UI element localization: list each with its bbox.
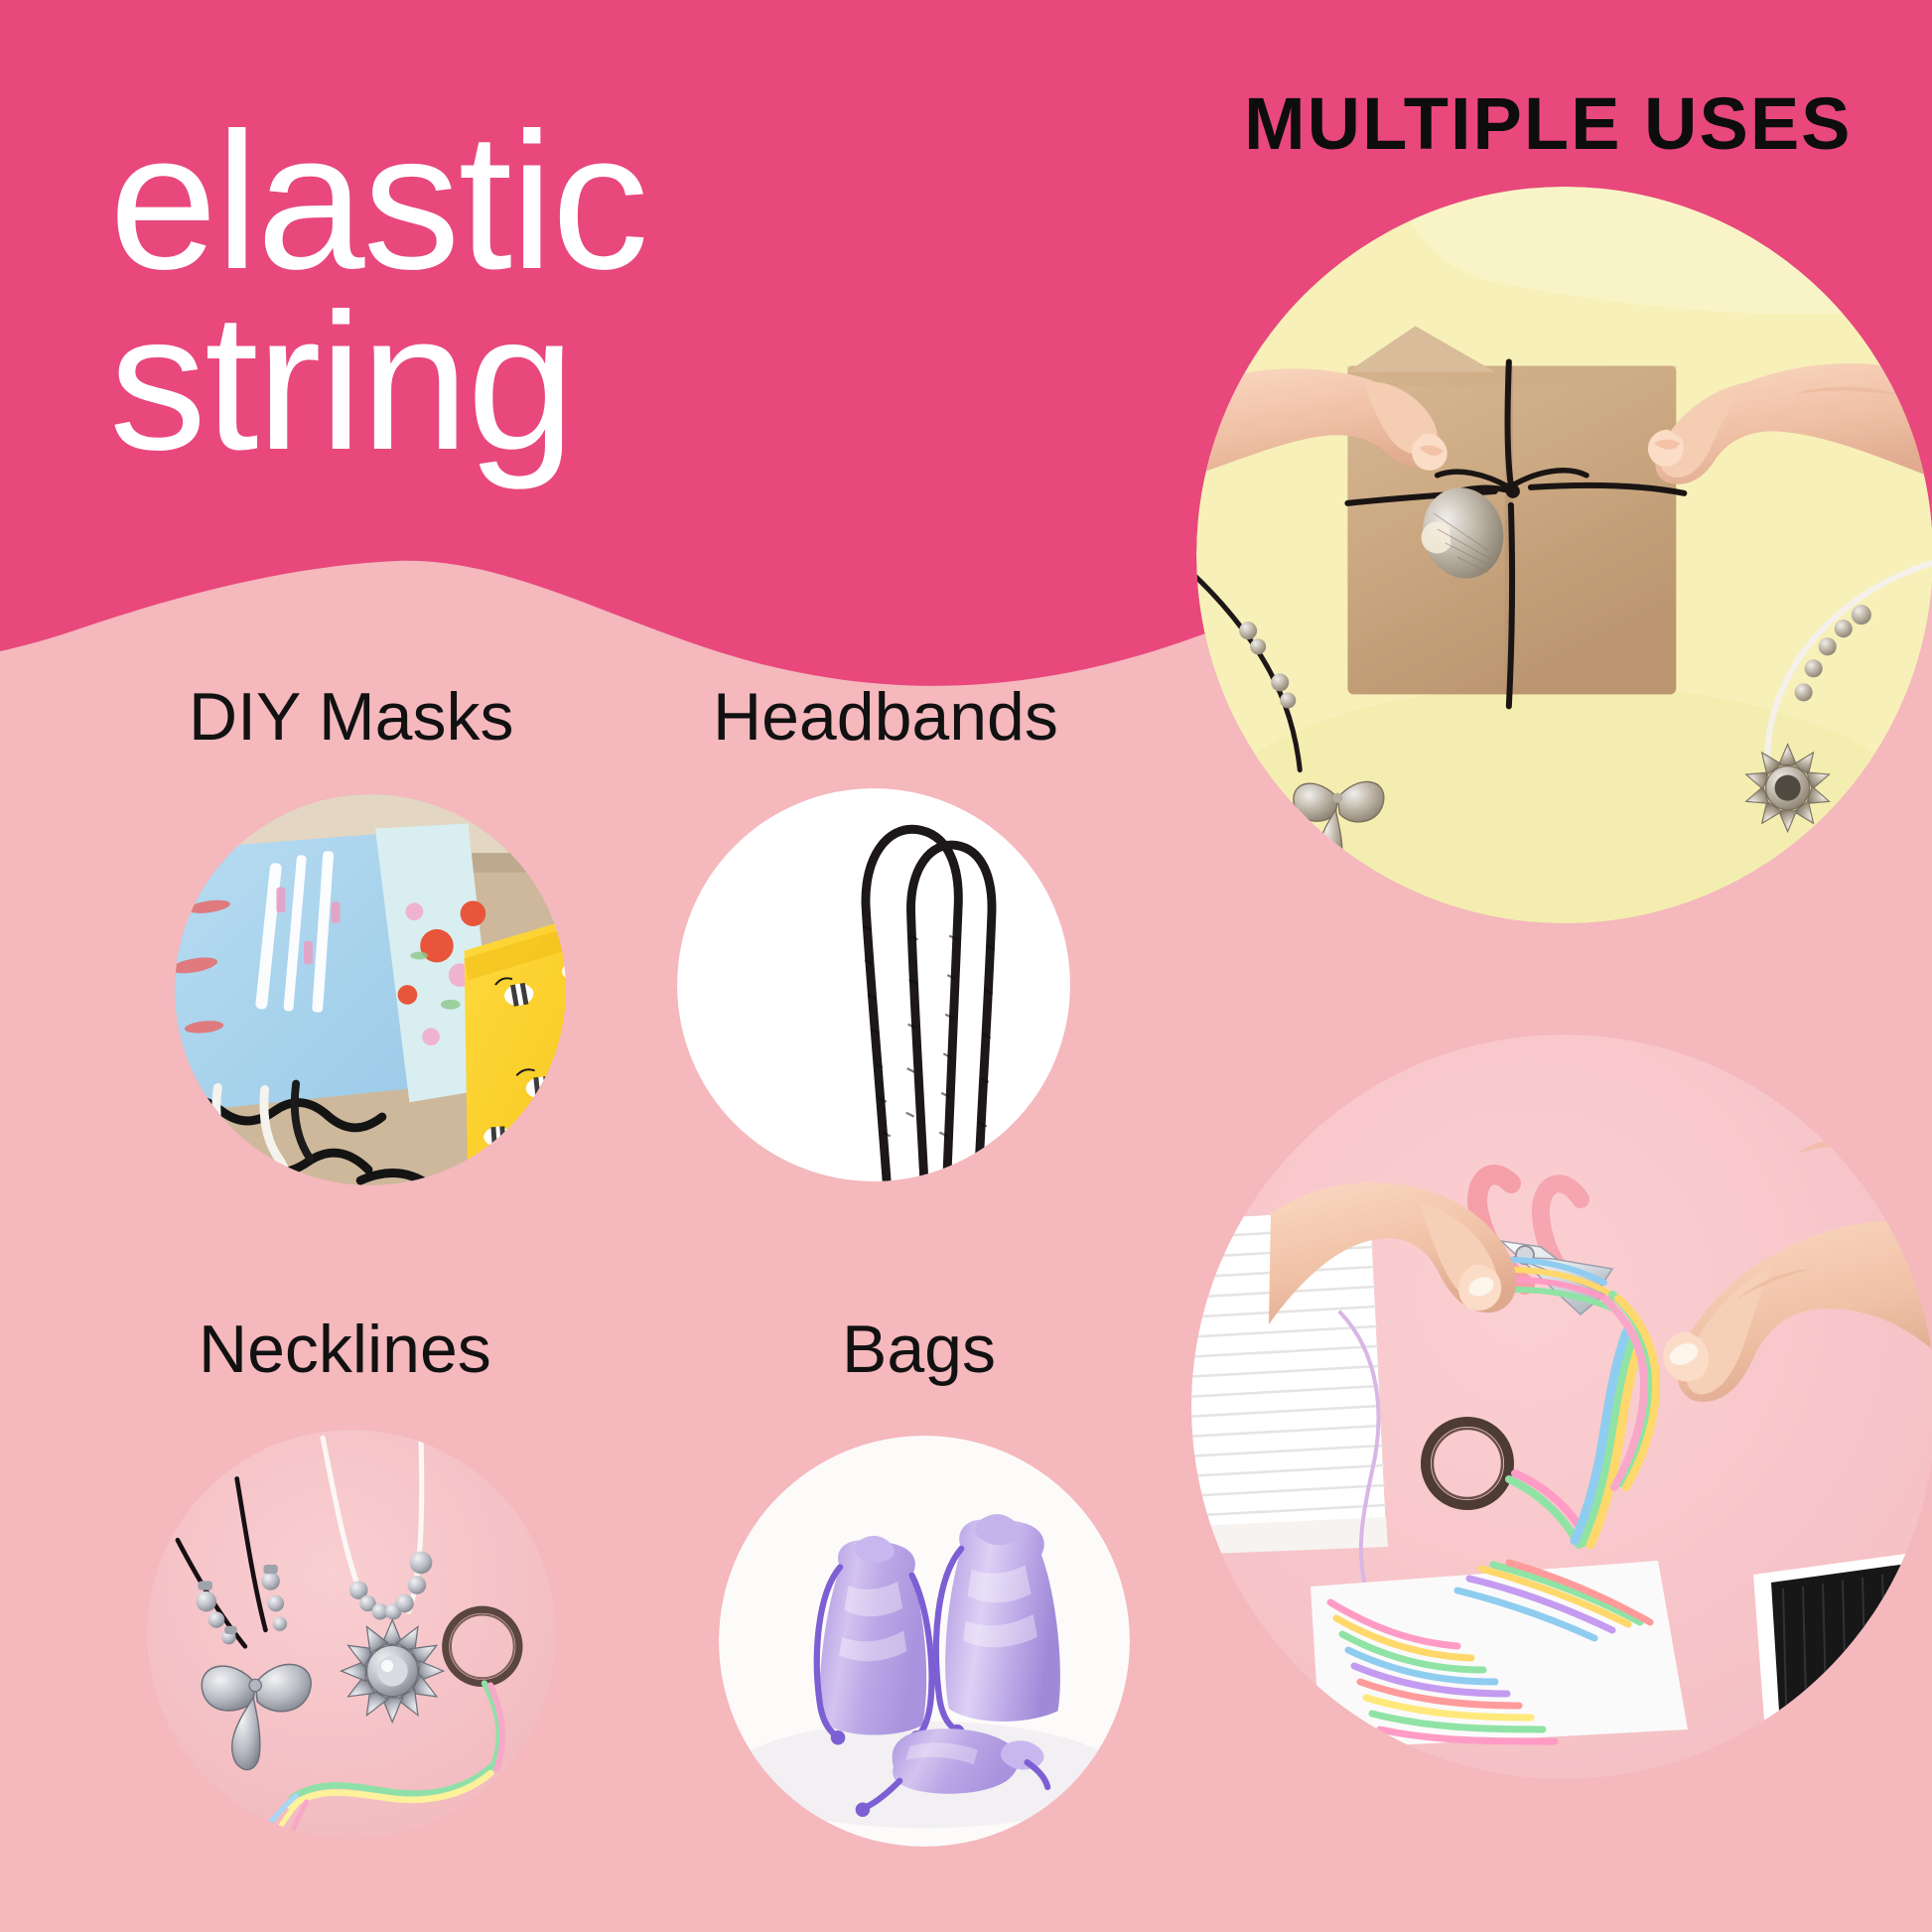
- label-diy-masks: DIY Masks: [189, 678, 513, 756]
- photo-diy-masks: [175, 794, 566, 1185]
- poster-canvas: elastic string MULTIPLE USES DIY Masks H…: [0, 0, 1932, 1932]
- photo-bags: [719, 1436, 1130, 1847]
- photo-gift-wrapping: [1196, 187, 1932, 923]
- label-headbands: Headbands: [713, 678, 1058, 756]
- page-title: elastic string: [109, 111, 923, 474]
- rainbow-cord-bundle: [1311, 1561, 1688, 1749]
- photo-cord-cutting: [1191, 1035, 1932, 1779]
- label-necklines: Necklines: [199, 1311, 491, 1388]
- photo-headbands: [677, 788, 1070, 1181]
- section-heading-multiple-uses: MULTIPLE USES: [1244, 81, 1853, 166]
- page-title-line2: string: [109, 292, 923, 473]
- label-bags: Bags: [842, 1311, 996, 1388]
- photo-necklines: [147, 1430, 556, 1839]
- page-title-line1: elastic: [109, 111, 923, 292]
